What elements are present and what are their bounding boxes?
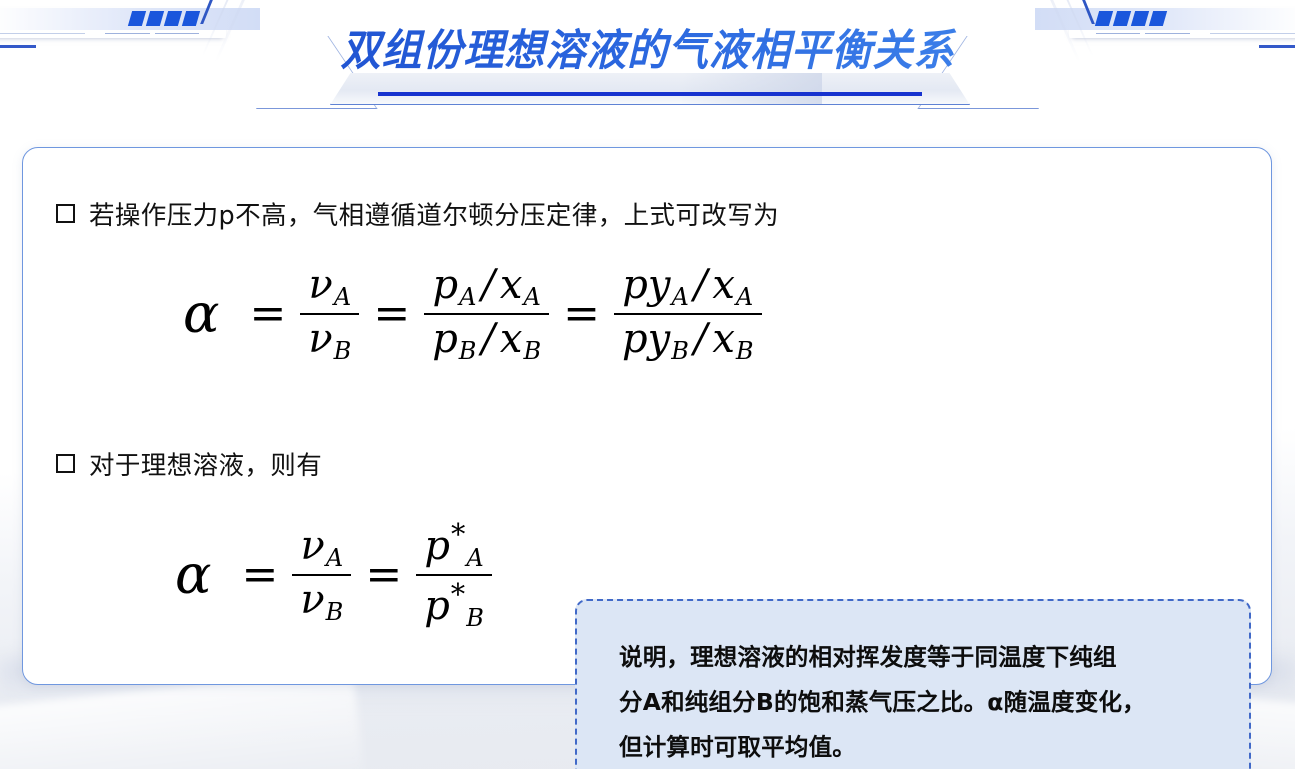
bullet-item-2: 对于理想溶液，则有 [56, 445, 322, 482]
fraction-denominator: νB [292, 576, 351, 628]
equals-sign: = [241, 553, 278, 597]
note-line: 但计算时可取平均值。 [619, 725, 1213, 769]
square-bullet-icon [56, 204, 75, 223]
fraction-denominator: p*B [416, 576, 492, 634]
bullet-item-1: 若操作压力p不高，气相遵循道尔顿分压定律，上式可改写为 [56, 195, 779, 232]
explanation-note-box: 说明，理想溶液的相对挥发度等于同温度下纯组 分A和纯组分B的饱和蒸气压之比。α随… [575, 599, 1251, 769]
fraction-nu-ratio: νA νB [292, 522, 351, 628]
equals-sign: = [249, 292, 286, 336]
bullet-text: 对于理想溶液，则有 [89, 445, 322, 482]
fraction-numerator: p*A [416, 516, 491, 574]
formula-alpha: α [175, 548, 211, 602]
fraction-numerator: pyA/xA [614, 261, 761, 313]
note-line: 分A和纯组分B的饱和蒸气压之比。α随温度变化， [619, 680, 1213, 725]
note-line: 说明，理想溶液的相对挥发度等于同温度下纯组 [619, 635, 1213, 680]
slide-header: 双组份理想溶液的气液相平衡关系 [0, 0, 1295, 120]
fraction-denominator: νB [300, 315, 359, 367]
equals-sign: = [365, 553, 402, 597]
header-accent-rule [0, 45, 36, 48]
fraction-partial-pressure: pA/xA pB/xB [424, 261, 549, 367]
header-accent-rule [1259, 45, 1295, 48]
slide: 双组份理想溶液的气液相平衡关系 若操作压力p不高，气相遵循道尔顿分压定律，上式可… [0, 0, 1295, 769]
formula-1: α = νA νB = pA/xA pB/xB = pyA/xA pyB/xB [183, 261, 762, 367]
page-title: 双组份理想溶液的气液相平衡关系 [45, 16, 1249, 78]
equals-sign: = [563, 292, 600, 336]
fraction-denominator: pB/xB [424, 315, 549, 367]
fraction-numerator: pA/xA [424, 261, 548, 313]
fraction-numerator: νA [300, 261, 359, 313]
fraction-nu-ratio: νA νB [300, 261, 359, 367]
equals-sign: = [373, 292, 410, 336]
formula-2: α = νA νB = p*A p*B [175, 516, 492, 634]
content-card: 若操作压力p不高，气相遵循道尔顿分压定律，上式可改写为 α = νA νB = … [22, 147, 1272, 685]
square-bullet-icon [56, 454, 75, 473]
title-underline [378, 92, 922, 96]
fraction-numerator: νA [292, 522, 351, 574]
fraction-denominator: pyB/xB [614, 315, 762, 367]
bullet-text: 若操作压力p不高，气相遵循道尔顿分压定律，上式可改写为 [89, 195, 779, 232]
fraction-saturated-pressure: p*A p*B [416, 516, 492, 634]
formula-alpha: α [183, 287, 219, 341]
fraction-dalton: pyA/xA pyB/xB [614, 261, 762, 367]
